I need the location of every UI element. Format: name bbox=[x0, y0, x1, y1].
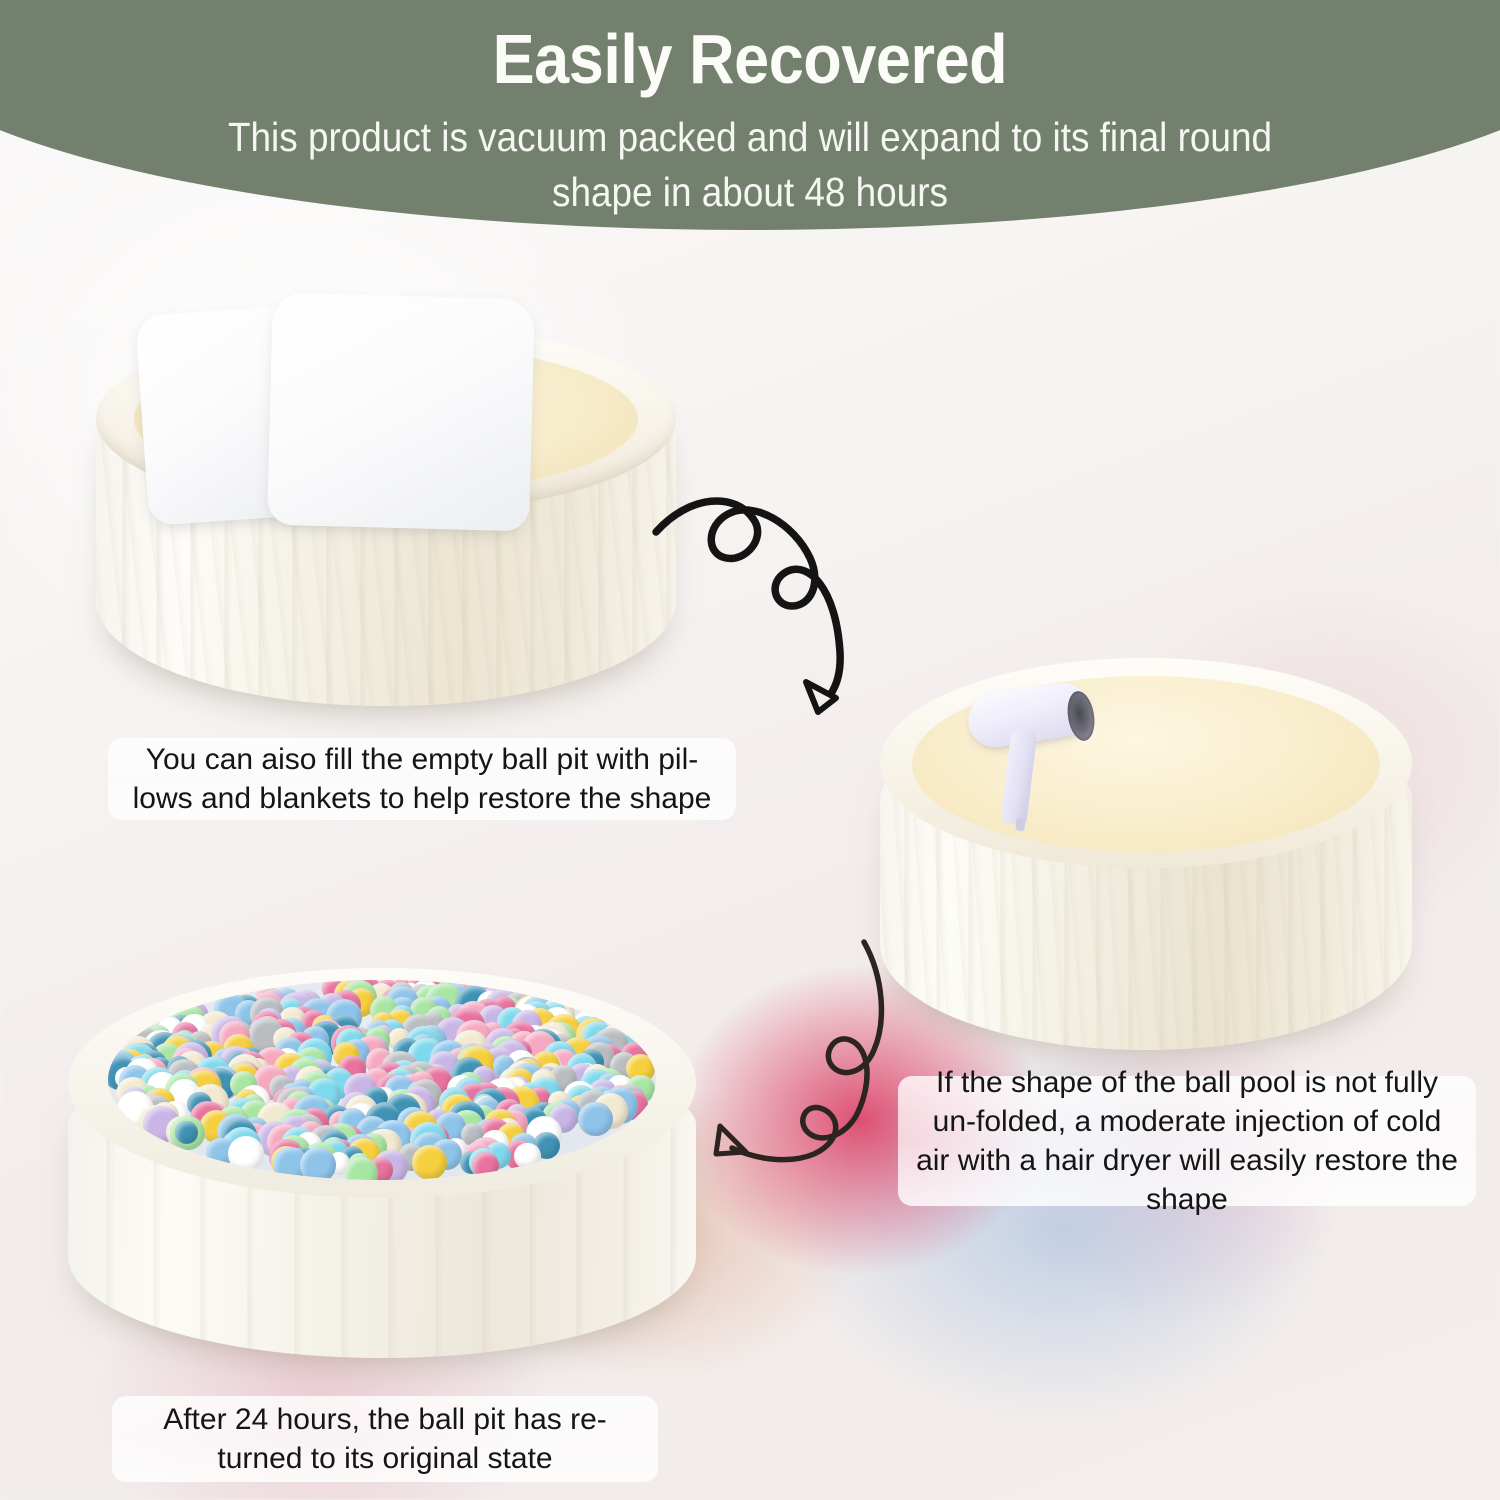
ball bbox=[175, 1121, 197, 1143]
page-subtitle: This product is vacuum packed and will e… bbox=[219, 110, 1281, 219]
ball bbox=[345, 1157, 377, 1180]
ball-pit-full-of-balls-image bbox=[62, 940, 702, 1370]
ball-pit-with-pillows-image bbox=[86, 288, 686, 733]
hair-dryer-cord-tip bbox=[1015, 818, 1026, 832]
hair-dryer-icon bbox=[968, 672, 1108, 832]
empty-ball-pit-with-hair-dryer-image bbox=[872, 640, 1420, 1070]
ball bbox=[300, 1147, 336, 1180]
ball bbox=[514, 1143, 540, 1169]
caption-pillows: You can aiso fill the empty ball pit wit… bbox=[108, 738, 736, 820]
page-title: Easily Recovered bbox=[493, 24, 1008, 94]
arrow-pillows-to-dryer-icon bbox=[650, 486, 890, 726]
infographic-page: Easily Recovered This product is vacuum … bbox=[0, 0, 1500, 1500]
caption-hair-dryer: If the shape of the ball pool is not ful… bbox=[898, 1076, 1476, 1206]
header-banner: Easily Recovered This product is vacuum … bbox=[0, 0, 1500, 230]
caption-24-hours: After 24 hours, the ball pit has re-turn… bbox=[112, 1396, 658, 1482]
ball-field bbox=[108, 980, 656, 1180]
ball bbox=[228, 1136, 264, 1172]
pillow-right bbox=[267, 293, 535, 532]
ball bbox=[472, 1152, 499, 1179]
ball bbox=[412, 1145, 447, 1180]
ball bbox=[578, 1102, 612, 1136]
